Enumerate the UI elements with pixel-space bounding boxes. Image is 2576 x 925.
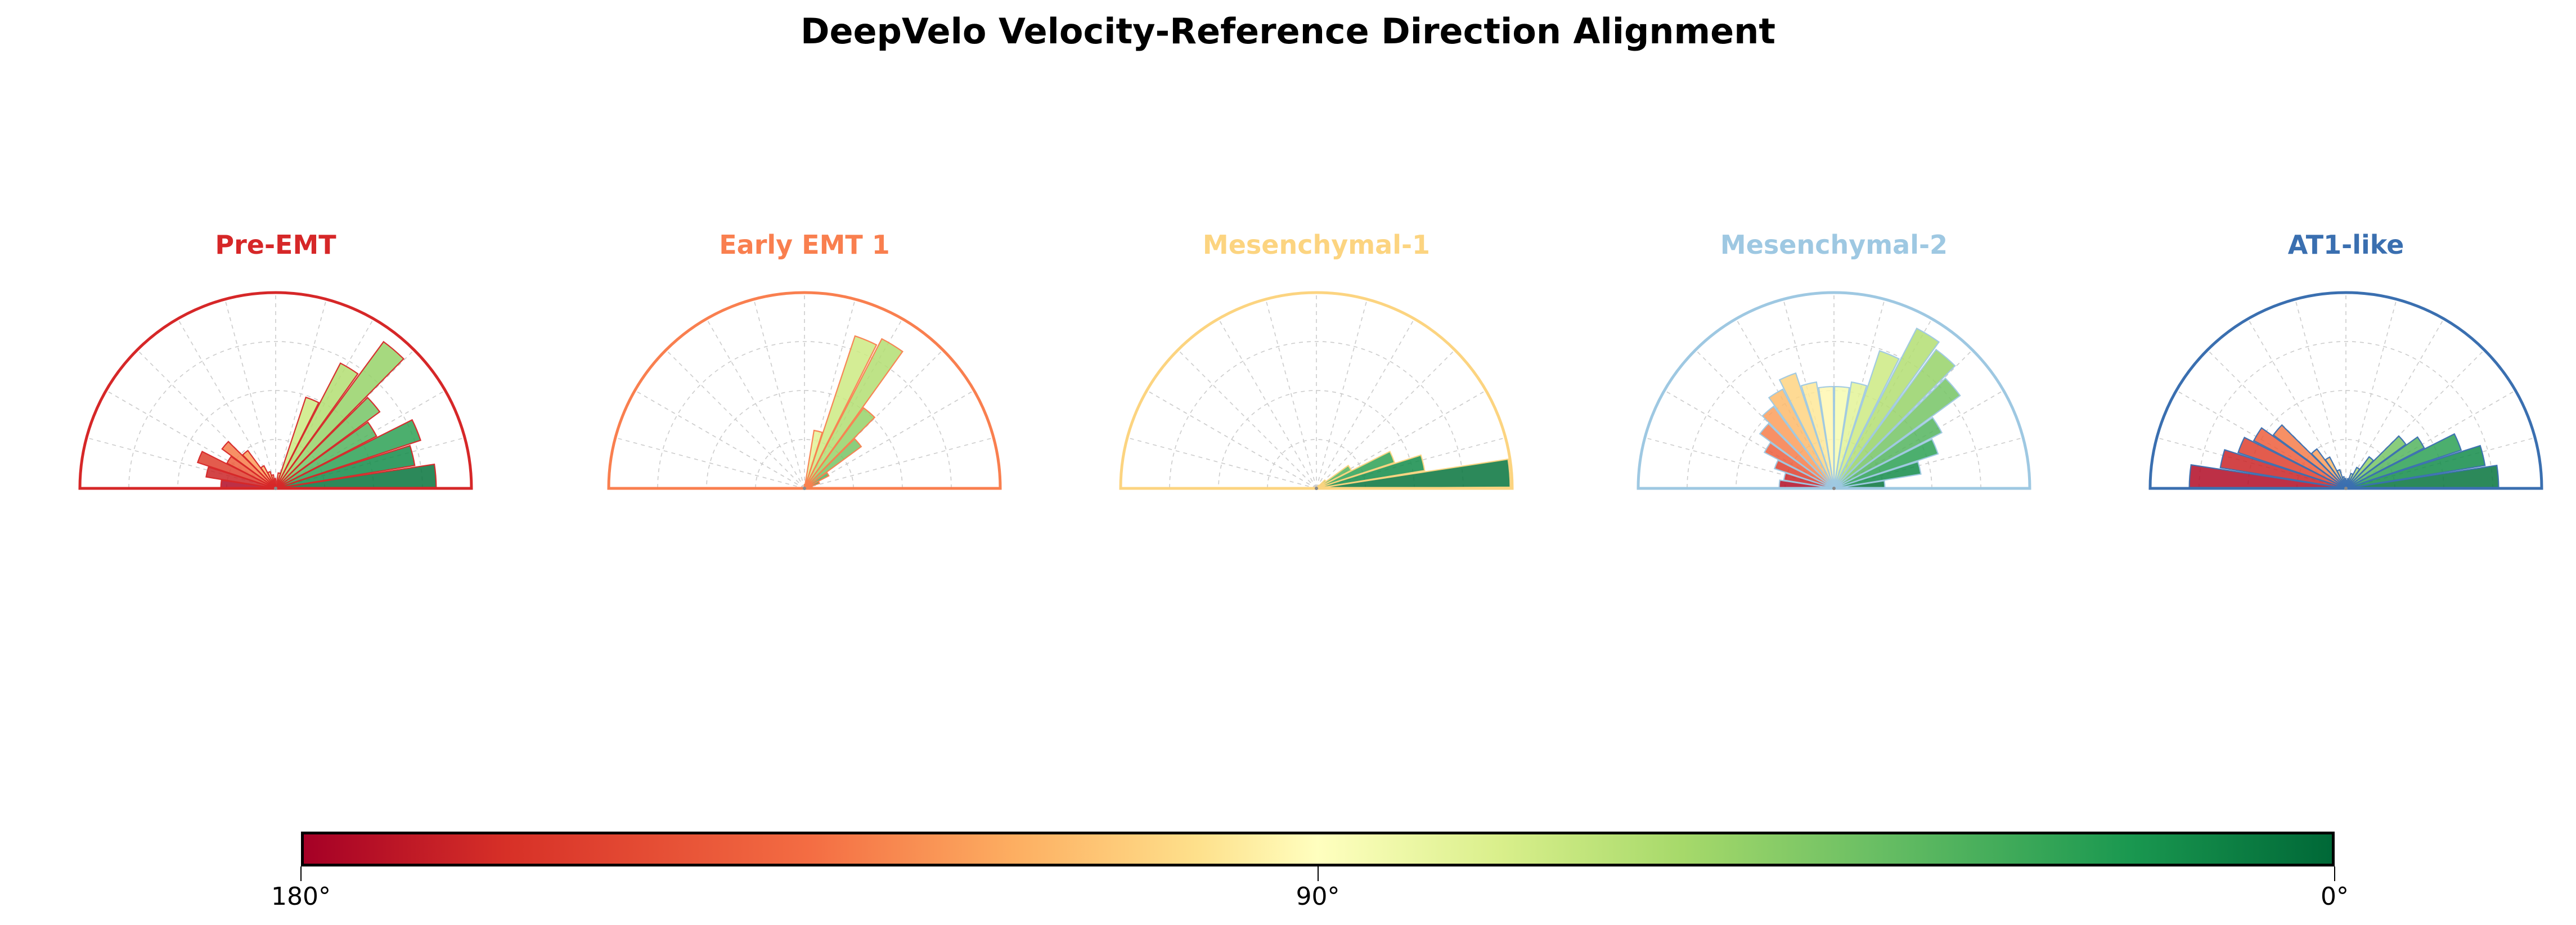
polar-panel-at1-like: AT1-like (2115, 214, 2576, 563)
polar-bars (1760, 329, 1960, 488)
colorbar-tick-label: 0° (2321, 882, 2349, 911)
polar-svg (1603, 276, 2065, 518)
polar-panel-mesenchymal-1: Mesenchymal-1 (1086, 214, 1547, 563)
panel-title: AT1-like (2115, 231, 2576, 259)
colorbar-tick-mark (2334, 866, 2335, 881)
polar-origin-dot (1832, 487, 1836, 490)
polar-bars (2190, 425, 2499, 488)
polar-panel-pre-emt: Pre-EMT (45, 214, 506, 563)
panel-title: Mesenchymal-2 (1603, 231, 2065, 259)
polar-plot-area (2115, 276, 2576, 518)
polar-grid (1127, 293, 1505, 488)
figure-title: DeepVelo Velocity-Reference Direction Al… (0, 12, 2576, 51)
polar-plot-area (574, 276, 1035, 518)
polar-plot-area (1086, 276, 1547, 518)
figure-canvas: DeepVelo Velocity-Reference Direction Al… (0, 0, 2576, 925)
colorbar-gradient (301, 832, 2335, 866)
polar-bars (804, 336, 902, 488)
polar-origin-dot (803, 487, 806, 490)
colorbar-area: 180°90°0° (0, 810, 2576, 923)
colorbar-tick-mark (300, 866, 302, 881)
panel-title: Mesenchymal-1 (1086, 231, 1547, 259)
polar-grid (615, 293, 993, 488)
colorbar-tick-label: 90° (1296, 882, 1340, 911)
polar-plot-area (45, 276, 506, 518)
colorbar-tick-label: 180° (271, 882, 331, 911)
polar-panel-early-emt-1: Early EMT 1 (574, 214, 1035, 563)
polar-svg (1086, 276, 1547, 518)
polar-svg (2115, 276, 2576, 518)
panel-title: Pre-EMT (45, 231, 506, 259)
panel-title: Early EMT 1 (574, 231, 1035, 259)
polar-origin-dot (1315, 487, 1318, 490)
polar-origin-dot (2344, 487, 2348, 490)
polar-svg (574, 276, 1035, 518)
polar-bars (1316, 451, 1510, 488)
polar-svg (45, 276, 506, 518)
polar-origin-dot (274, 487, 277, 490)
colorbar-tick-mark (1318, 866, 1319, 881)
polar-plot-area (1603, 276, 2065, 518)
polar-panel-mesenchymal-2: Mesenchymal-2 (1603, 214, 2065, 563)
